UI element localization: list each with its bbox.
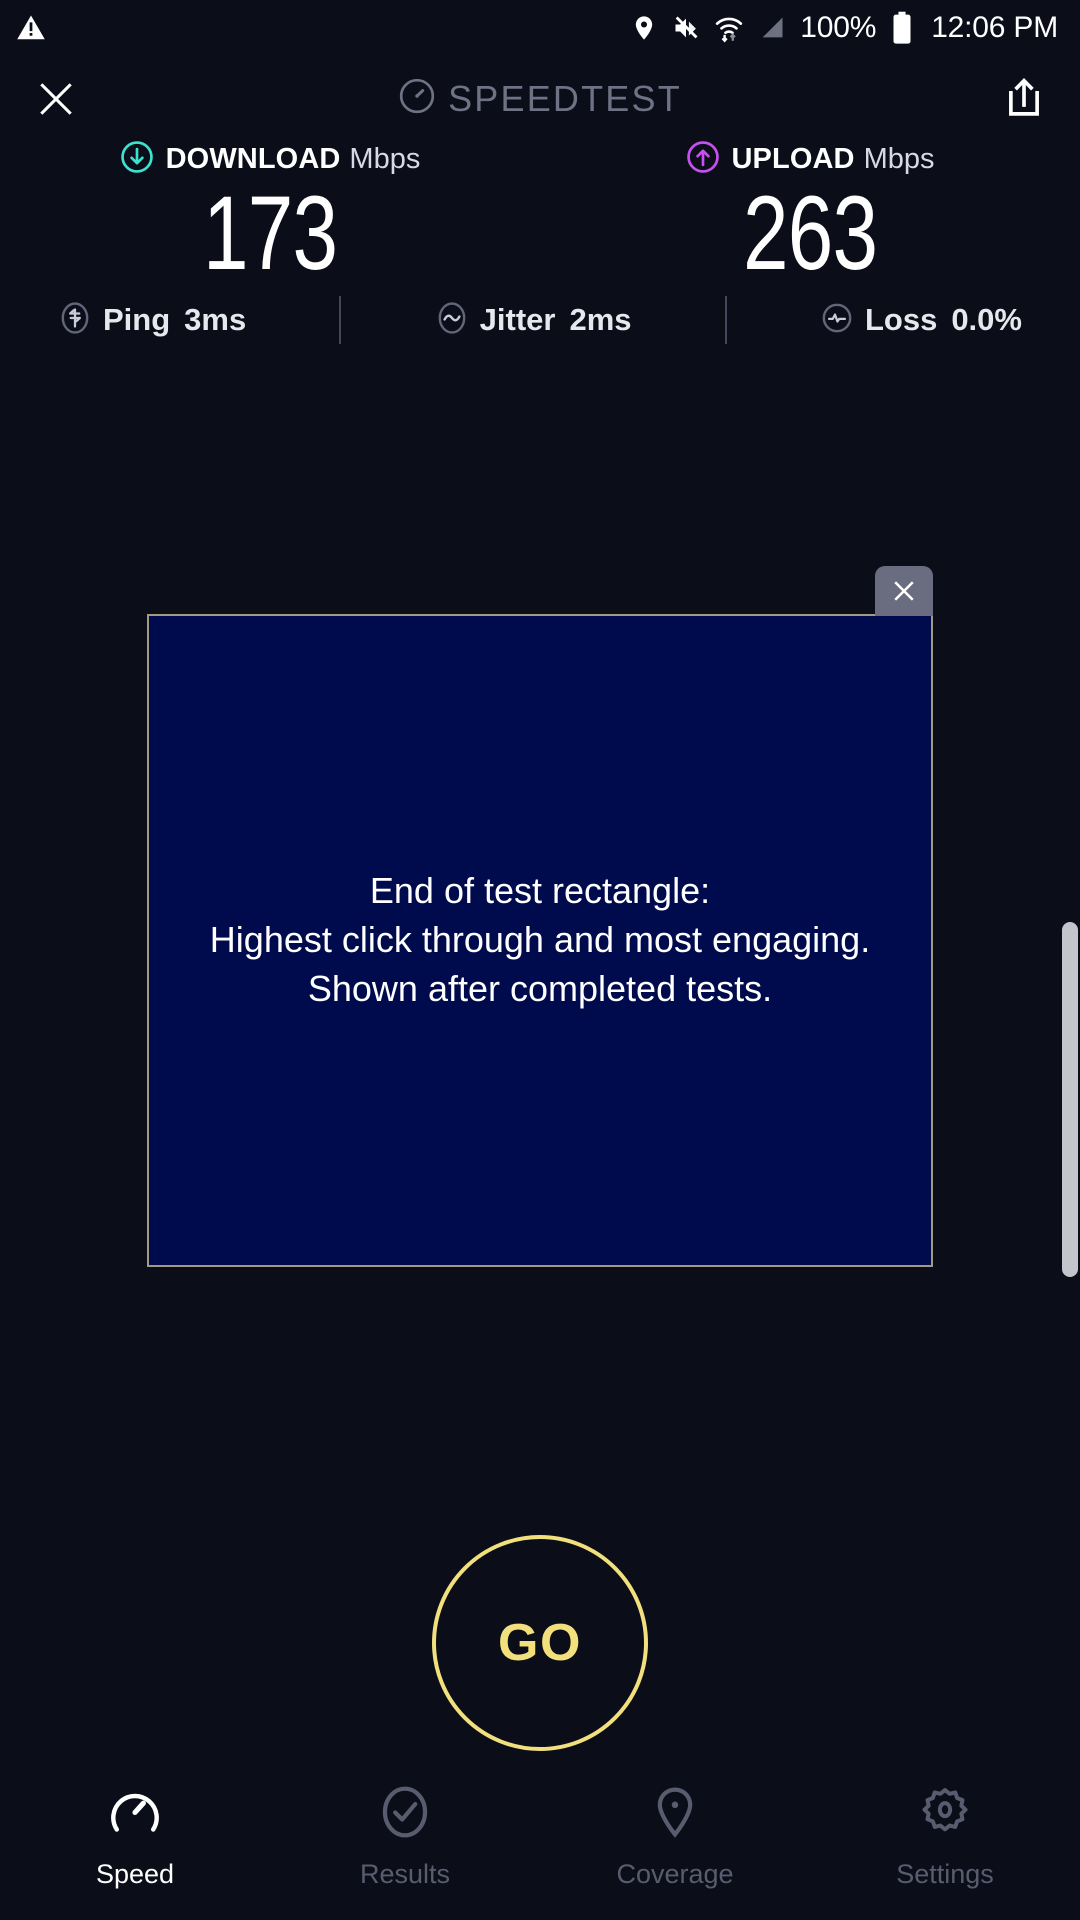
network-metrics-row: Ping 3ms Jitter 2ms [0,296,1080,344]
battery-full-icon [891,11,913,45]
close-icon [34,77,78,121]
metric-loss: Loss 0.0% [820,301,1022,340]
go-button[interactable]: GO [432,1535,648,1751]
upload-unit: Mbps [864,143,935,176]
ad-close-button[interactable] [875,566,933,616]
download-value: 173 [203,181,337,286]
wifi-transfer-icon [714,13,744,43]
close-icon [889,576,919,606]
ping-label: Ping [103,302,170,338]
scrollbar-thumb[interactable] [1062,922,1078,1277]
upload-arrow-circle-icon [686,140,720,179]
gear-icon [917,1784,973,1845]
nav-item-coverage[interactable]: Coverage [540,1784,810,1890]
ping-value: 3ms [184,302,246,338]
status-bar-right: 100% 12:06 PM [630,11,1058,45]
check-circle-icon [377,1784,433,1845]
metric-divider [339,296,341,344]
nav-label-speed: Speed [96,1859,174,1890]
battery-percent-label: 100% [800,11,876,45]
jitter-icon [435,301,469,340]
bottom-navigation: Speed Results Coverage [0,1768,1080,1920]
download-label: DOWNLOAD [166,143,341,176]
loss-value: 0.0% [951,302,1022,338]
loss-icon [820,301,854,340]
nav-item-settings[interactable]: Settings [810,1784,1080,1890]
download-heading: DOWNLOAD Mbps [120,140,421,179]
ad-text: End of test rectangle: Highest click thr… [210,867,870,1014]
metric-divider [725,296,727,344]
warning-triangle-icon [16,13,46,43]
loss-label: Loss [865,302,937,338]
ping-icon [58,301,92,340]
nav-item-results[interactable]: Results [270,1784,540,1890]
speedometer-icon [107,1784,163,1845]
nav-label-results: Results [360,1859,450,1890]
upload-value: 263 [743,181,877,286]
nav-label-settings: Settings [896,1859,994,1890]
nav-item-speed[interactable]: Speed [0,1784,270,1890]
nav-label-coverage: Coverage [616,1859,733,1890]
upload-label: UPLOAD [732,143,855,176]
download-unit: Mbps [349,143,420,176]
location-pin-icon [630,14,658,42]
jitter-value: 2ms [569,302,631,338]
download-result: DOWNLOAD Mbps 173 [0,140,540,286]
metric-jitter: Jitter 2ms [435,301,632,340]
status-bar: 100% 12:06 PM [0,0,1080,56]
volume-muted-icon [671,14,701,42]
test-results: DOWNLOAD Mbps 173 UPLOAD Mbps 263 [0,140,1080,344]
upload-result: UPLOAD Mbps 263 [540,140,1080,286]
app-header: SPEEDTEST [0,56,1080,141]
location-pin-icon [647,1784,703,1845]
jitter-label: Jitter [480,302,556,338]
upload-heading: UPLOAD Mbps [686,140,935,179]
status-bar-left [16,13,46,43]
share-button[interactable] [996,71,1052,127]
download-arrow-circle-icon [120,140,154,179]
cellular-signal-icon [757,14,787,42]
go-button-label: GO [498,1613,582,1673]
advertisement-container: End of test rectangle: Highest click thr… [147,614,933,1267]
close-app-button[interactable] [28,71,84,127]
advertisement-banner[interactable]: End of test rectangle: Highest click thr… [147,614,933,1267]
speedometer-icon [398,77,436,120]
metric-ping: Ping 3ms [58,301,246,340]
share-upload-icon [1003,76,1045,122]
speed-results-row: DOWNLOAD Mbps 173 UPLOAD Mbps 263 [0,140,1080,286]
speedtest-app-screen: 100% 12:06 PM SP [0,0,1080,1920]
brand-title: SPEEDTEST [448,78,682,120]
brand-lockup: SPEEDTEST [0,77,1080,120]
clock-label: 12:06 PM [931,11,1058,45]
